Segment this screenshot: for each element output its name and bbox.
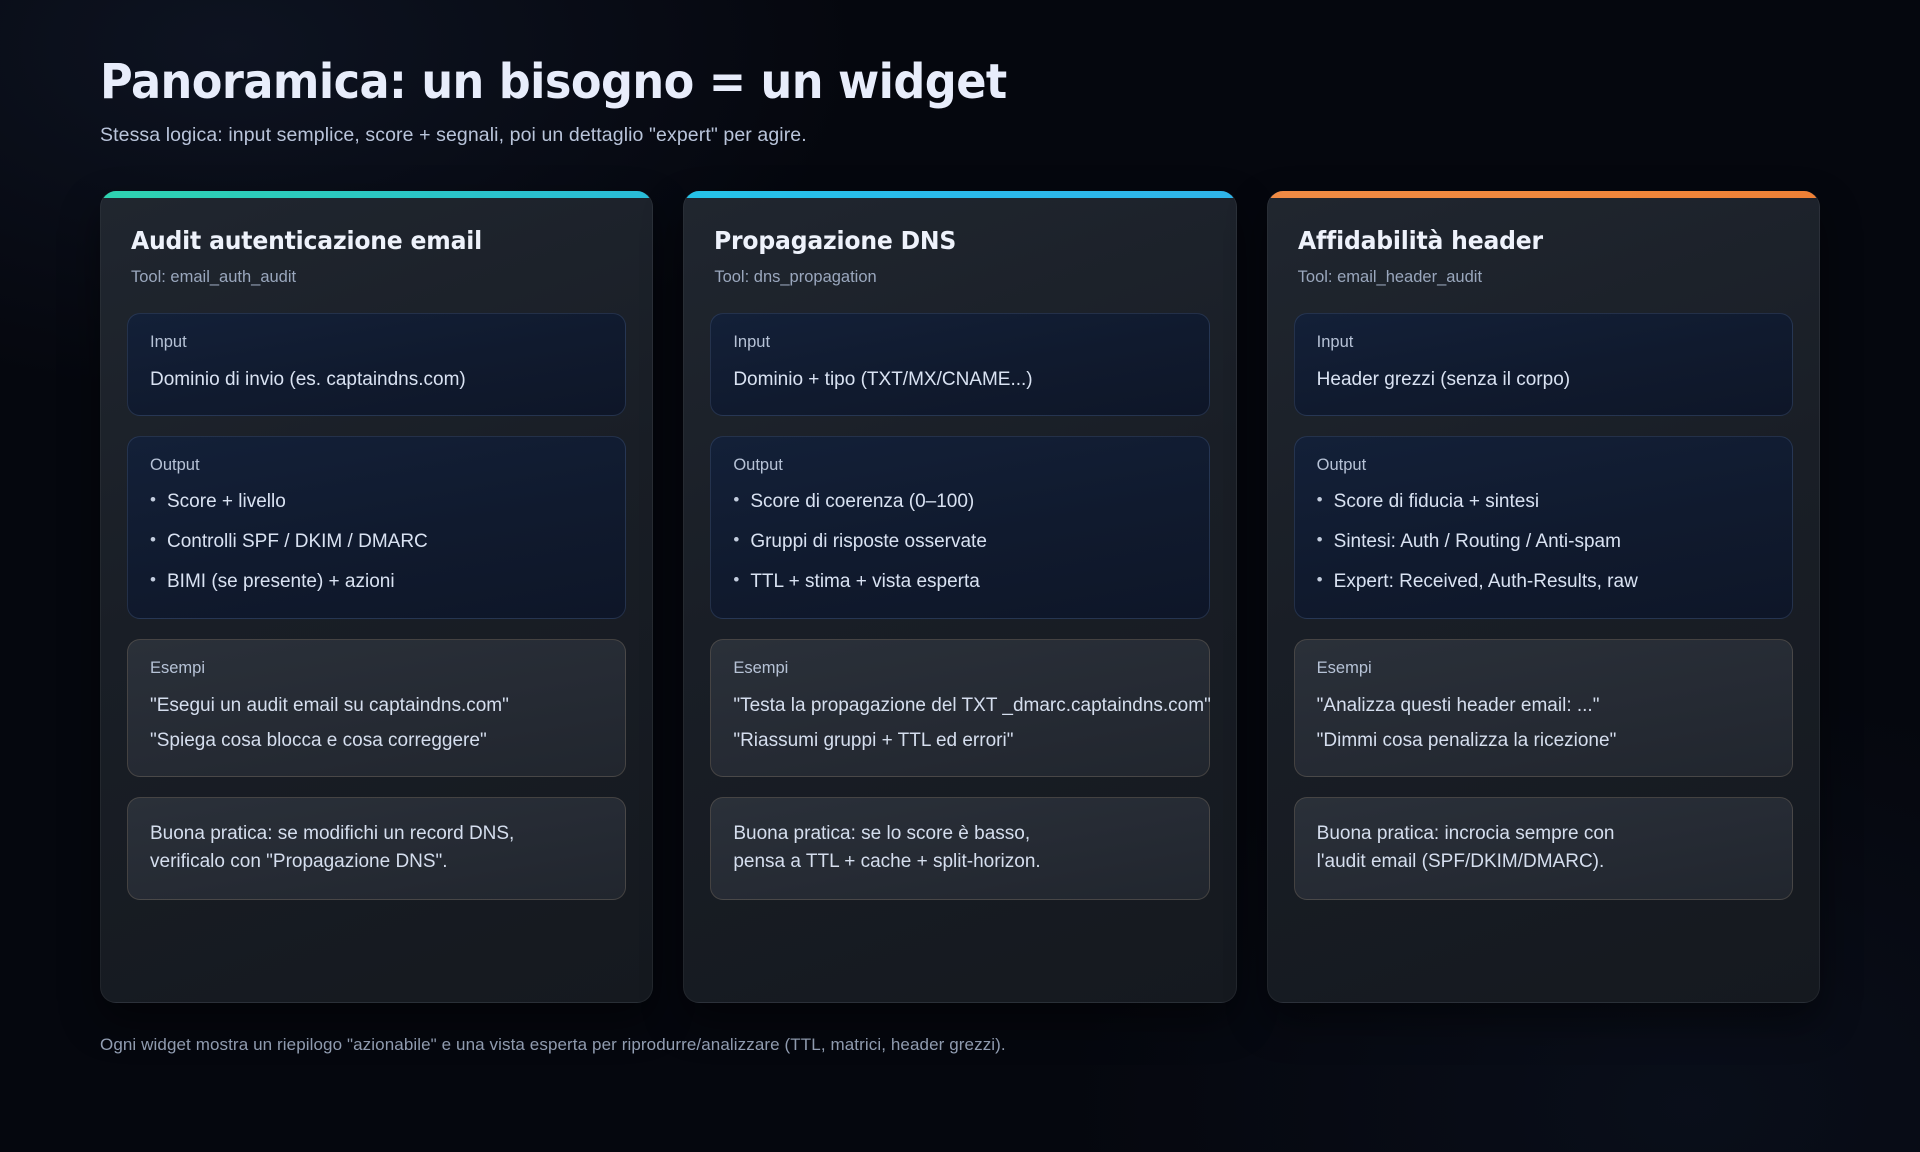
card-title: Propagazione DNS (714, 226, 1176, 255)
output-section: Output Score + livello Controlli SPF / D… (127, 436, 626, 619)
input-label: Input (1317, 333, 1770, 352)
card-header: Audit autenticazione email Tool: email_a… (101, 198, 652, 293)
example-quote: "Spiega cosa blocca e cosa correggere" (150, 727, 603, 755)
input-value: Dominio + tipo (TXT/MX/CNAME...) (733, 366, 1186, 394)
input-section: Input Dominio + tipo (TXT/MX/CNAME...) (710, 313, 1209, 417)
widget-card-email-auth-audit[interactable]: Audit autenticazione email Tool: email_a… (100, 191, 653, 1003)
examples-section: Esempi "Testa la propagazione del TXT _d… (710, 639, 1209, 777)
best-practice-section: Buona pratica: se lo score è basso, pens… (710, 797, 1209, 900)
best-practice-section: Buona pratica: incrocia sempre con l'aud… (1294, 797, 1793, 900)
input-section: Input Dominio di invio (es. captaindns.c… (127, 313, 626, 417)
input-value: Header grezzi (senza il corpo) (1317, 366, 1770, 394)
widget-card-dns-propagation[interactable]: Propagazione DNS Tool: dns_propagation I… (683, 191, 1236, 1003)
page-footer-note: Ogni widget mostra un riepilogo "azionab… (100, 1035, 1820, 1055)
output-section: Output Score di coerenza (0–100) Gruppi … (710, 436, 1209, 619)
list-item: Score di coerenza (0–100) (733, 489, 1186, 516)
best-practice-line-1: Buona pratica: se lo score è basso, (733, 820, 1186, 848)
best-practice-line-1: Buona pratica: incrocia sempre con (1317, 820, 1770, 848)
output-list: Score + livello Controlli SPF / DKIM / D… (150, 489, 603, 596)
output-label: Output (1317, 456, 1770, 475)
example-quote: "Testa la propagazione del TXT _dmarc.ca… (733, 692, 1186, 720)
input-section: Input Header grezzi (senza il corpo) (1294, 313, 1793, 417)
card-tool-name: Tool: email_header_audit (1298, 268, 1789, 287)
best-practice-line-1: Buona pratica: se modifichi un record DN… (150, 820, 603, 848)
widget-card-email-header-audit[interactable]: Affidabilità header Tool: email_header_a… (1267, 191, 1820, 1003)
list-item: Sintesi: Auth / Routing / Anti-spam (1317, 529, 1770, 556)
card-accent-bar (684, 191, 1235, 198)
widget-card-grid: Audit autenticazione email Tool: email_a… (100, 191, 1820, 1003)
input-value: Dominio di invio (es. captaindns.com) (150, 366, 603, 394)
list-item: TTL + stima + vista esperta (733, 569, 1186, 596)
examples-label: Esempi (150, 659, 603, 678)
best-practice-line-2: verificalo con "Propagazione DNS". (150, 848, 603, 876)
examples-section: Esempi "Analizza questi header email: ..… (1294, 639, 1793, 777)
list-item: Controlli SPF / DKIM / DMARC (150, 529, 603, 556)
output-label: Output (150, 456, 603, 475)
card-title: Audit autenticazione email (131, 226, 593, 255)
examples-label: Esempi (1317, 659, 1770, 678)
list-item: Score di fiducia + sintesi (1317, 489, 1770, 516)
card-tool-name: Tool: dns_propagation (714, 268, 1205, 287)
card-accent-bar (101, 191, 652, 198)
output-list: Score di coerenza (0–100) Gruppi di risp… (733, 489, 1186, 596)
slide-page: Panoramica: un bisogno = un widget Stess… (0, 0, 1920, 1152)
list-item: Expert: Received, Auth-Results, raw (1317, 569, 1770, 596)
output-section: Output Score di fiducia + sintesi Sintes… (1294, 436, 1793, 619)
example-quote: "Riassumi gruppi + TTL ed errori" (733, 727, 1186, 755)
best-practice-section: Buona pratica: se modifichi un record DN… (127, 797, 626, 900)
example-quote: "Esegui un audit email su captaindns.com… (150, 692, 603, 720)
input-label: Input (733, 333, 1186, 352)
examples-section: Esempi "Esegui un audit email su captain… (127, 639, 626, 777)
example-quote: "Dimmi cosa penalizza la ricezione" (1317, 727, 1770, 755)
best-practice-line-2: pensa a TTL + cache + split-horizon. (733, 848, 1186, 876)
list-item: BIMI (se presente) + azioni (150, 569, 603, 596)
list-item: Gruppi di risposte osservate (733, 529, 1186, 556)
card-sections: Input Dominio + tipo (TXT/MX/CNAME...) O… (684, 313, 1235, 901)
card-header: Affidabilità header Tool: email_header_a… (1268, 198, 1819, 293)
example-quote: "Analizza questi header email: ..." (1317, 692, 1770, 720)
card-header: Propagazione DNS Tool: dns_propagation (684, 198, 1235, 293)
list-item: Score + livello (150, 489, 603, 516)
best-practice-line-2: l'audit email (SPF/DKIM/DMARC). (1317, 848, 1770, 876)
card-tool-name: Tool: email_auth_audit (131, 268, 622, 287)
input-label: Input (150, 333, 603, 352)
card-sections: Input Dominio di invio (es. captaindns.c… (101, 313, 652, 901)
examples-label: Esempi (733, 659, 1186, 678)
card-sections: Input Header grezzi (senza il corpo) Out… (1268, 313, 1819, 901)
output-label: Output (733, 456, 1186, 475)
card-title: Affidabilità header (1298, 226, 1760, 255)
page-subtitle: Stessa logica: input semplice, score + s… (100, 124, 1820, 147)
page-title: Panoramica: un bisogno = un widget (100, 56, 1700, 110)
output-list: Score di fiducia + sintesi Sintesi: Auth… (1317, 489, 1770, 596)
card-accent-bar (1268, 191, 1819, 198)
